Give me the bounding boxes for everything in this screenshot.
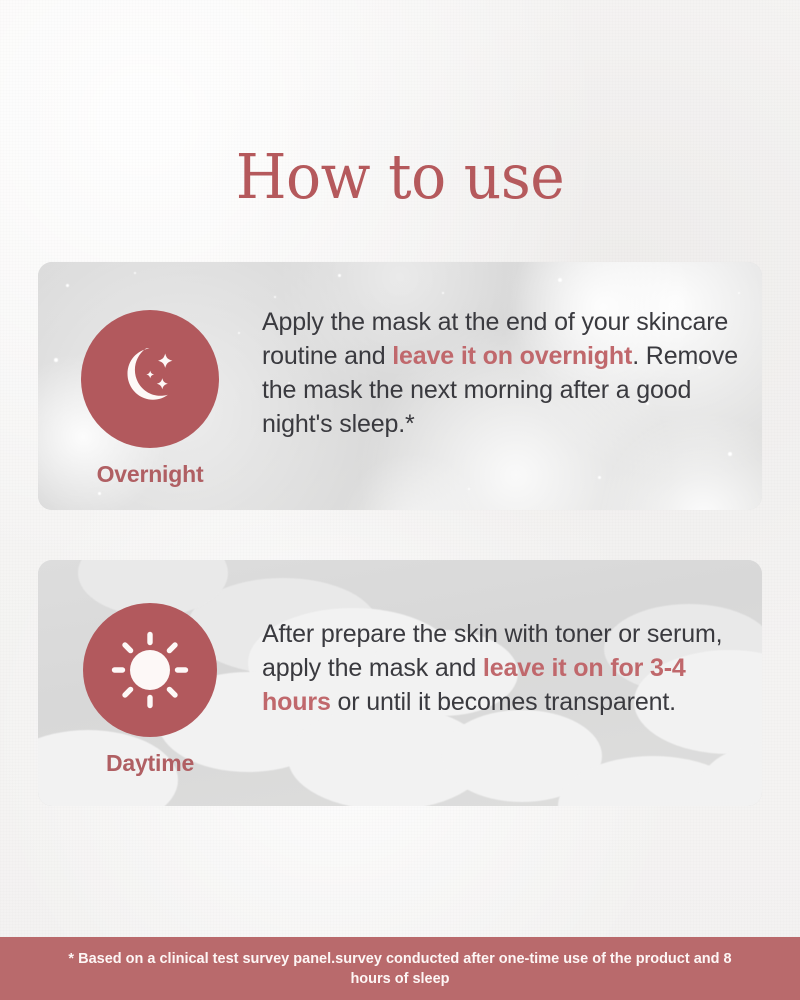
footnote-bar: * Based on a clinical test survey panel.…: [0, 937, 800, 1000]
daytime-instruction-text: After prepare the skin with toner or ser…: [262, 617, 744, 719]
overnight-badge: [81, 310, 219, 448]
highlighted-text-segment: leave it on overnight: [392, 342, 632, 370]
crescent-moon-stars-icon: [110, 339, 190, 419]
page-title-wrapper: How to use: [0, 146, 800, 208]
overnight-instruction-text: Apply the mask at the end of your skinca…: [262, 305, 744, 441]
daytime-badge: [83, 603, 217, 737]
overnight-label: Overnight: [97, 461, 204, 488]
sun-icon: [108, 628, 192, 712]
footnote-text: * Based on a clinical test survey panel.…: [50, 949, 750, 989]
text-column-daytime: After prepare the skin with toner or ser…: [262, 560, 762, 719]
icon-column-daytime: Daytime: [38, 560, 262, 777]
text-segment: or until it becomes transparent.: [331, 688, 676, 716]
daytime-label: Daytime: [106, 750, 194, 777]
instruction-card-daytime: Daytime After prepare the skin with tone…: [38, 560, 762, 806]
card-content-daytime: Daytime After prepare the skin with tone…: [38, 560, 762, 806]
card-content-overnight: Overnight Apply the mask at the end of y…: [38, 262, 762, 510]
page-title: How to use: [24, 146, 776, 208]
instruction-card-overnight: Overnight Apply the mask at the end of y…: [38, 262, 762, 510]
text-column-overnight: Apply the mask at the end of your skinca…: [262, 262, 762, 441]
icon-column-overnight: Overnight: [38, 262, 262, 488]
